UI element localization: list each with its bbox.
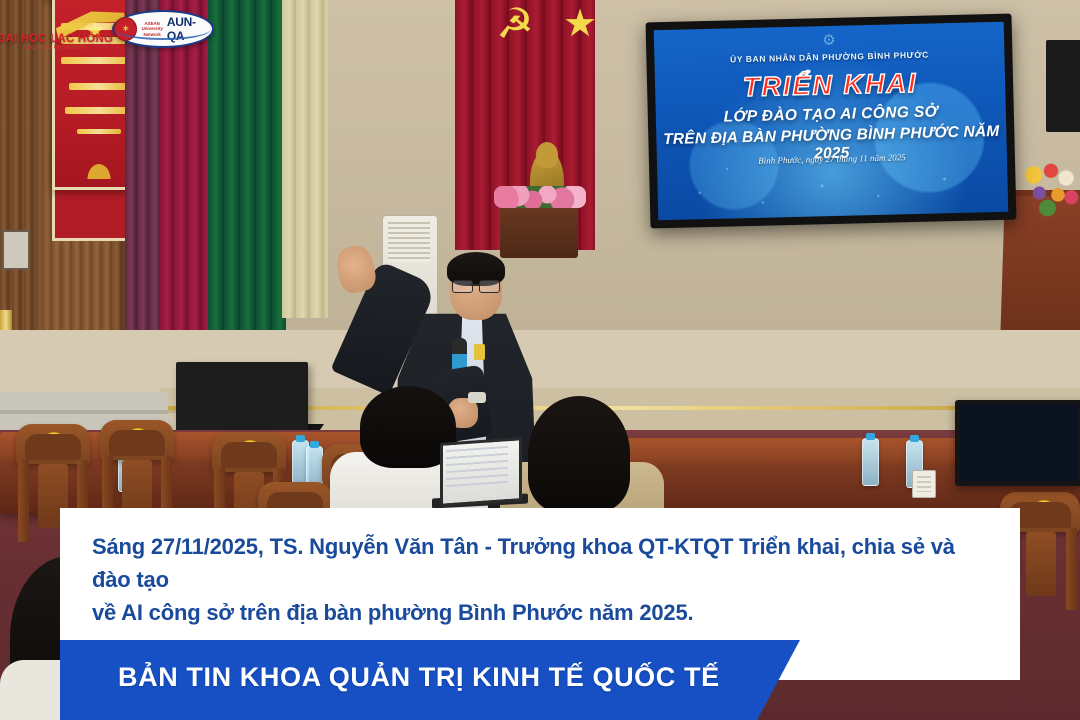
lac-hong-university-logo: ĐẠI HỌC LẠC HỒNG LAC HONG UNIVERSITY bbox=[2, 22, 108, 62]
caption-text: Sáng 27/11/2025, TS. Nguyễn Văn Tân - Tr… bbox=[92, 530, 992, 629]
air-conditioner-grill bbox=[388, 222, 430, 262]
curtain-maroon bbox=[160, 0, 212, 340]
university-logo-subtitle: LAC HONG UNIVERSITY bbox=[24, 45, 86, 51]
curtain-green bbox=[208, 0, 286, 335]
gold-star-icon: ★ bbox=[560, 4, 600, 44]
bulletin-banner-title: BẢN TIN KHOA QUẢN TRỊ KINH TẾ QUỐC TẾ bbox=[118, 662, 720, 693]
wall-socket bbox=[912, 470, 936, 498]
chair-badge: 12 bbox=[238, 440, 262, 464]
attendee-hair bbox=[528, 396, 630, 512]
lotus-ornament-icon bbox=[79, 153, 119, 179]
chair-badge: 15 bbox=[1032, 500, 1056, 524]
chair-badge: 10 bbox=[42, 432, 66, 456]
gear-emblem-icon: ⚙ bbox=[822, 31, 836, 49]
led-presentation-screen: ⚙ ỦY BAN NHÂN DÂN PHƯỜNG BÌNH PHƯỚC TRIỂ… bbox=[646, 14, 1017, 229]
chair-badge: 11 bbox=[126, 428, 150, 452]
wall-switch bbox=[2, 230, 30, 270]
water-bottle bbox=[862, 438, 879, 486]
university-logo-name: ĐẠI HỌC LẠC HỒNG bbox=[0, 33, 113, 45]
monitor-display bbox=[955, 400, 1080, 486]
hammer-sickle-icon: ☭ bbox=[492, 2, 538, 46]
speaker-name-tag bbox=[474, 344, 485, 360]
flower-arrangement bbox=[494, 186, 586, 208]
laptop-screen-content bbox=[446, 446, 508, 492]
aun-swoosh-icon bbox=[116, 20, 210, 40]
speaker-glasses-icon bbox=[452, 280, 500, 291]
caption-line-2: về AI công sở trên địa bàn phường Bình P… bbox=[92, 596, 992, 629]
photo-news-card: ★ ☭ ★ ⚙ bbox=[0, 0, 1080, 720]
bulletin-banner: BẢN TIN KHOA QUẢN TRỊ KINH TẾ QUỐC TẾ bbox=[60, 640, 800, 720]
wristwatch bbox=[468, 392, 486, 403]
loudspeaker-box bbox=[176, 362, 308, 430]
curtain-cream bbox=[282, 0, 328, 318]
podium-flower-arrangement bbox=[1022, 160, 1080, 220]
bust-head bbox=[536, 142, 558, 168]
caption-line-1: Sáng 27/11/2025, TS. Nguyễn Văn Tân - Tr… bbox=[92, 530, 992, 596]
side-display bbox=[1046, 40, 1080, 132]
aun-qa-logo: ✶ ASEAN University Network AUN-QA bbox=[112, 10, 214, 48]
